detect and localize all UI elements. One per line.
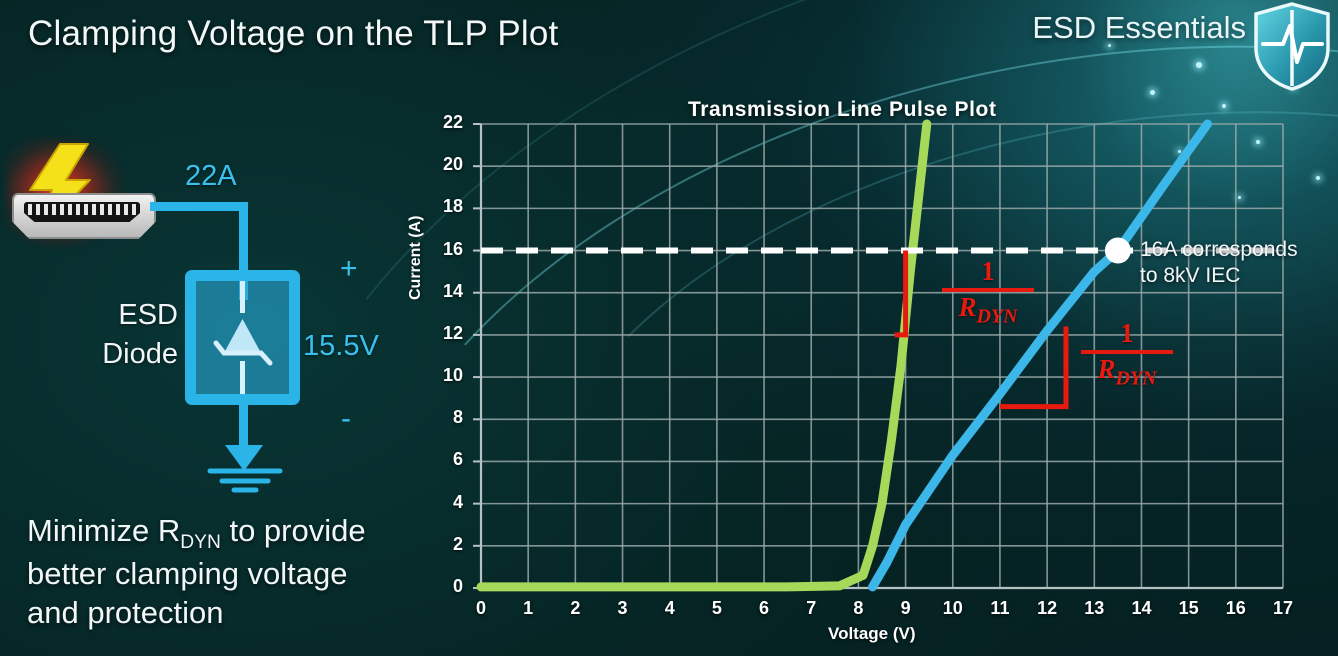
slope-triangle-2 (1000, 326, 1066, 406)
slope-annotation-2: 1 RDYN (1079, 320, 1175, 389)
fraction-bar-1 (942, 288, 1034, 292)
slope-numerator-2: 1 (1079, 320, 1175, 347)
tlp-chart: Transmission Line Pulse Plot Current (A)… (0, 0, 1338, 656)
slide-root: Clamping Voltage on the TLP Plot ESD Ess… (0, 0, 1338, 656)
slope-numerator-1: 1 (940, 258, 1036, 285)
threshold-callout-line2: to 8kV IEC (1140, 263, 1298, 289)
chart-marker-point (1105, 238, 1131, 264)
curve-series-0 (481, 124, 927, 587)
fraction-bar-2 (1081, 350, 1173, 354)
threshold-callout: 16A corresponds to 8kV IEC (1140, 237, 1298, 288)
slope-annotation-1: 1 RDYN (940, 258, 1036, 327)
slope-denominator-1: RDYN (940, 293, 1036, 327)
slope-denominator-2: RDYN (1079, 355, 1175, 389)
threshold-callout-line1: 16A corresponds (1140, 237, 1298, 263)
